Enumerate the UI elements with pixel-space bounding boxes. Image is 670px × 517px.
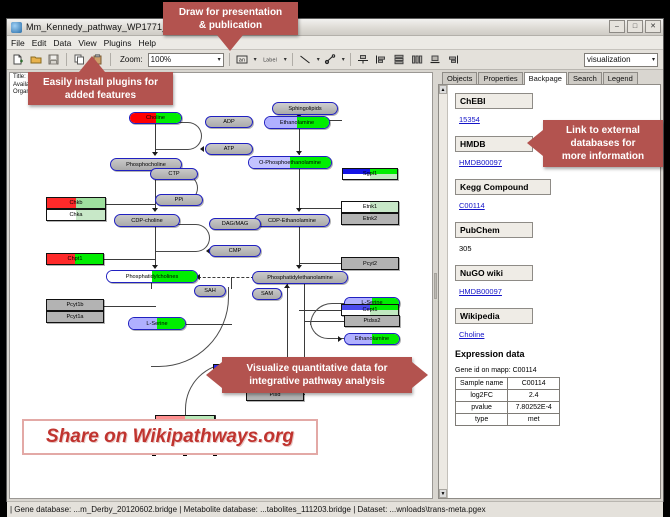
edge-ope-cdpetn bbox=[299, 169, 300, 211]
node-label: Sgpl1 bbox=[363, 171, 377, 177]
node-label: Chkb bbox=[69, 200, 82, 206]
chevron-down-icon: ▾ bbox=[218, 56, 221, 63]
arc-dag-cmp bbox=[156, 224, 210, 252]
stack-rows-icon[interactable] bbox=[392, 52, 407, 67]
node-label: Pcyt2 bbox=[363, 261, 377, 267]
node-ethanolamine-right[interactable]: Ethanolamine bbox=[344, 333, 400, 345]
close-button[interactable]: ✕ bbox=[645, 20, 661, 33]
node-ctp[interactable]: CTP bbox=[150, 168, 198, 180]
chevron-down-icon-label[interactable]: ▾ bbox=[284, 56, 287, 63]
node-label: Choline bbox=[146, 115, 165, 121]
db-link-wikipedia[interactable]: Choline bbox=[459, 330, 484, 339]
table-row: type met bbox=[456, 414, 560, 426]
menu-item-edit[interactable]: Edit bbox=[32, 38, 47, 48]
cell-value: 7.80252E-4 bbox=[508, 402, 560, 414]
tab-properties[interactable]: Properties bbox=[478, 72, 522, 84]
cell-key: type bbox=[456, 414, 508, 426]
callout-arrow-down-draw bbox=[217, 35, 243, 51]
cell-value: met bbox=[508, 414, 560, 426]
arrow-icon bbox=[200, 146, 204, 152]
zoom-combo[interactable]: 100% ▾ bbox=[148, 53, 224, 67]
chevron-down-icon-anchor[interactable]: ▾ bbox=[342, 56, 345, 63]
db-name-nugo: NuGO wiki bbox=[455, 265, 533, 281]
tab-search[interactable]: Search bbox=[568, 72, 602, 84]
node-label: Ethanolamine bbox=[280, 120, 314, 126]
cell-key: log2FC bbox=[456, 390, 508, 402]
arrow-icon bbox=[338, 336, 342, 342]
node-label: Sphingolipids bbox=[288, 106, 321, 112]
edge-chpt1-catalysis bbox=[104, 259, 156, 260]
side-scrollbar[interactable]: ▲ ▼ bbox=[439, 85, 448, 498]
edge-chk-catalysis bbox=[106, 204, 156, 205]
node-label: Cept1 bbox=[363, 307, 378, 313]
edge-lserine-link bbox=[186, 324, 232, 325]
toolbar-separator-1 bbox=[66, 53, 67, 66]
cell-key: Sample name bbox=[456, 378, 508, 390]
toolbar-separator-3 bbox=[229, 53, 230, 66]
node-label: Phosphatidylcholines bbox=[126, 274, 179, 280]
node-label: Pcyt1a bbox=[66, 314, 83, 320]
label-icon[interactable]: Label bbox=[260, 52, 280, 67]
node-label: Phosphatidylethanolamine bbox=[267, 275, 333, 281]
scroll-up-button[interactable]: ▲ bbox=[439, 85, 447, 94]
node-adp[interactable]: ADP bbox=[205, 116, 253, 128]
node-label: ATP bbox=[224, 146, 234, 152]
node-etnk2[interactable]: Etnk2 bbox=[341, 213, 399, 225]
status-text: | Gene database: ...m_Derby_20120602.bri… bbox=[10, 505, 486, 514]
node-atp[interactable]: ATP bbox=[205, 143, 253, 155]
edge-pcyt1-catalysis bbox=[104, 306, 156, 307]
node-label: CTP bbox=[168, 171, 179, 177]
tab-legend[interactable]: Legend bbox=[603, 72, 638, 84]
expression-table: Sample name C00114 log2FC 2.4 pvalue 7.8… bbox=[455, 377, 560, 426]
db-link-chebi[interactable]: 15354 bbox=[459, 115, 480, 124]
db-name-hmdb: HMDB bbox=[455, 136, 533, 152]
db-link-kegg[interactable]: C00114 bbox=[459, 201, 485, 210]
cell-key: pvalue bbox=[456, 402, 508, 414]
edge-pisd-link2 bbox=[304, 394, 305, 395]
table-row: Sample name C00114 bbox=[456, 378, 560, 390]
menu-bar: File Edit Data View Plugins Help bbox=[7, 36, 663, 50]
window-buttons: – □ ✕ bbox=[609, 20, 661, 33]
db-link-hmdb[interactable]: HMDB00097 bbox=[459, 158, 502, 167]
node-choline-top[interactable]: Choline bbox=[129, 112, 182, 124]
toolbar-separator-5 bbox=[350, 53, 351, 66]
cell-value: C00114 bbox=[508, 378, 560, 390]
node-phosphatidylcholines[interactable]: Phosphatidylcholines bbox=[106, 270, 198, 283]
node-pcyt1a[interactable]: Pcyt1a bbox=[46, 311, 104, 323]
node-etnk1[interactable]: Etnk1 bbox=[341, 201, 399, 213]
toolbar-separator-2 bbox=[110, 53, 111, 66]
node-phosphatidylethanolamine[interactable]: Phosphatidylethanolamine bbox=[252, 271, 348, 284]
node-label: Chka bbox=[69, 212, 82, 218]
node-sam[interactable]: SAM bbox=[252, 288, 282, 300]
node-label: Etnk1 bbox=[363, 204, 377, 210]
node-cmp[interactable]: CMP bbox=[209, 245, 261, 257]
edge-pcyt2-catalysis bbox=[299, 208, 341, 209]
node-label: PPi bbox=[175, 197, 184, 203]
node-label: CMP bbox=[229, 248, 241, 254]
minimize-button[interactable]: – bbox=[609, 20, 625, 33]
db-name-wikipedia: Wikipedia bbox=[455, 308, 533, 324]
callout-arrow-right-visualize bbox=[412, 362, 428, 388]
table-row: pvalue 7.80252E-4 bbox=[456, 402, 560, 414]
db-entry-kegg: Kegg Compound C00114 bbox=[455, 177, 654, 213]
svg-text:an: an bbox=[239, 58, 245, 64]
node-label: SAH bbox=[204, 288, 216, 294]
scroll-down-button[interactable]: ▼ bbox=[439, 489, 447, 498]
table-row: log2FC 2.4 bbox=[456, 390, 560, 402]
node-label: CDP-Ethanolamine bbox=[268, 218, 316, 224]
screenshot-root: Mm_Kennedy_pathway_WP1771_45176.gpml – □… bbox=[0, 0, 670, 509]
node-label: SAM bbox=[261, 291, 273, 297]
edge-pemt-link bbox=[231, 277, 232, 289]
callout-arrow-left-visualize bbox=[206, 362, 222, 388]
node-label: Ptdss2 bbox=[363, 318, 380, 324]
expression-data-heading: Expression data bbox=[455, 349, 654, 359]
arrow-icon bbox=[296, 208, 302, 212]
chevron-down-icon-datanode[interactable]: ▾ bbox=[254, 56, 257, 63]
visualization-combo[interactable]: visualization ▾ bbox=[584, 53, 658, 67]
db-entry-pubchem: PubChem 305 bbox=[455, 220, 654, 256]
share-text: Share on Wikipathways.org bbox=[46, 426, 294, 448]
status-bar: | Gene database: ...m_Derby_20120602.bri… bbox=[7, 501, 663, 517]
node-ppi[interactable]: PPi bbox=[155, 194, 203, 206]
distribute-icon[interactable] bbox=[410, 52, 425, 67]
node-sphingolipids[interactable]: Sphingolipids bbox=[272, 102, 338, 115]
node-label: Ethanolamine bbox=[355, 336, 389, 342]
node-o-phosphoethanolamine[interactable]: O-Phosphoethanolamine bbox=[248, 156, 332, 169]
node-label: ADP bbox=[223, 119, 235, 125]
node-ptdss2[interactable]: Ptdss2 bbox=[344, 315, 400, 327]
callout-link-to-external-databases: Link to external databases for more info… bbox=[543, 120, 663, 167]
align-center-vertical-icon[interactable] bbox=[356, 52, 371, 67]
node-label: Etnk2 bbox=[363, 216, 377, 222]
node-l-serine-left[interactable]: L-Serine bbox=[128, 317, 186, 330]
align-right-icon[interactable] bbox=[446, 52, 461, 67]
tab-objects[interactable]: Objects bbox=[442, 72, 477, 84]
db-name-pubchem: PubChem bbox=[455, 222, 533, 238]
node-chkb[interactable]: Chkb bbox=[46, 197, 106, 209]
node-label: L-Serine bbox=[361, 300, 382, 306]
zoom-value: 100% bbox=[151, 55, 171, 64]
node-pcyt1b[interactable]: Pcyt1b bbox=[46, 299, 104, 311]
arrow-icon bbox=[284, 284, 290, 288]
arc-adp-atp bbox=[156, 122, 202, 150]
toolbar-separator-4 bbox=[292, 53, 293, 66]
align-left-icon[interactable] bbox=[374, 52, 389, 67]
app-icon bbox=[11, 22, 22, 33]
db-link-nugo[interactable]: HMDB00097 bbox=[459, 287, 502, 296]
arrow-icon bbox=[152, 152, 158, 156]
db-entry-nugo: NuGO wiki HMDB00097 bbox=[455, 263, 654, 299]
visualization-value: visualization bbox=[587, 55, 631, 64]
datanode-icon[interactable]: an bbox=[235, 52, 250, 67]
node-label: DAG/MAG bbox=[222, 221, 248, 227]
new-file-icon[interactable] bbox=[10, 52, 25, 67]
arrow-icon bbox=[152, 208, 158, 212]
node-ethanolamine-top[interactable]: Ethanolamine bbox=[264, 116, 330, 129]
node-label: Pcyt1b bbox=[66, 302, 83, 308]
tab-backpage[interactable]: Backpage bbox=[524, 72, 567, 85]
callout-arrow-left-external bbox=[527, 130, 543, 156]
align-bottom-icon[interactable] bbox=[428, 52, 443, 67]
arrow-icon bbox=[296, 151, 302, 155]
svg-text:Label: Label bbox=[263, 58, 277, 64]
side-panel-tabs: Objects Properties Backpage Search Legen… bbox=[438, 72, 661, 85]
node-label: L-Serine bbox=[146, 321, 167, 327]
title-bar: Mm_Kennedy_pathway_WP1771_45176.gpml – □… bbox=[7, 19, 663, 36]
node-cdp-ethanolamine[interactable]: CDP-Ethanolamine bbox=[254, 214, 330, 227]
gene-id-on-mapp: Gene id on mapp: C00114 bbox=[455, 367, 654, 374]
callout-arrow-up-plugins bbox=[79, 56, 105, 72]
cell-value: 2.4 bbox=[508, 390, 560, 402]
node-pcyt2[interactable]: Pcyt2 bbox=[341, 257, 399, 270]
save-icon[interactable] bbox=[46, 52, 61, 67]
menu-item-file[interactable]: File bbox=[11, 38, 25, 48]
callout-visualize-quantitative-data: Visualize quantitative data for integrat… bbox=[222, 357, 412, 393]
node-label: Phosphocholine bbox=[126, 162, 166, 168]
line-icon[interactable] bbox=[298, 52, 313, 67]
node-sgpl1[interactable]: Sgpl1 bbox=[342, 168, 398, 180]
node-label: CDP-choline bbox=[131, 218, 162, 224]
callout-draw-for-publication: Draw for presentation & publication bbox=[163, 2, 298, 35]
callout-easily-install-plugins: Easily install plugins for added feature… bbox=[28, 72, 173, 105]
node-dagmag[interactable]: DAG/MAG bbox=[209, 218, 261, 230]
db-value-pubchem: 305 bbox=[459, 244, 472, 253]
node-chka[interactable]: Chka bbox=[46, 209, 106, 221]
menu-item-data[interactable]: Data bbox=[53, 38, 71, 48]
chevron-down-icon-line[interactable]: ▾ bbox=[317, 56, 320, 63]
maximize-button[interactable]: □ bbox=[627, 20, 643, 33]
chevron-down-icon-visualization: ▾ bbox=[652, 56, 655, 63]
open-folder-icon[interactable] bbox=[28, 52, 43, 67]
menu-item-help[interactable]: Help bbox=[139, 38, 156, 48]
node-sah[interactable]: SAH bbox=[194, 285, 226, 297]
arrow-icon bbox=[152, 265, 158, 269]
edge-pe-to-pc bbox=[198, 277, 254, 278]
db-name-chebi: ChEBI bbox=[455, 93, 533, 109]
node-chpt1[interactable]: Chpt1 bbox=[46, 253, 104, 265]
toolbar: Zoom: 100% ▾ an ▾ Label ▾ ▾ ▾ bbox=[7, 50, 663, 70]
edge-cdpetn-pe bbox=[299, 227, 300, 267]
anchor-line-icon[interactable] bbox=[323, 52, 338, 67]
arrow-icon bbox=[296, 265, 302, 269]
zoom-label: Zoom: bbox=[120, 55, 143, 64]
callout-share-on-wikipathways: Share on Wikipathways.org bbox=[22, 419, 318, 455]
menu-item-view[interactable]: View bbox=[78, 38, 96, 48]
node-cdp-choline[interactable]: CDP-choline bbox=[114, 214, 180, 227]
db-entry-wikipedia: Wikipedia Choline bbox=[455, 306, 654, 342]
db-name-kegg: Kegg Compound bbox=[455, 179, 551, 195]
node-label: Chpt1 bbox=[68, 256, 83, 262]
edge-pcyt2b-catalysis bbox=[299, 263, 341, 264]
menu-item-plugins[interactable]: Plugins bbox=[104, 38, 132, 48]
node-label: O-Phosphoethanolamine bbox=[259, 160, 321, 166]
